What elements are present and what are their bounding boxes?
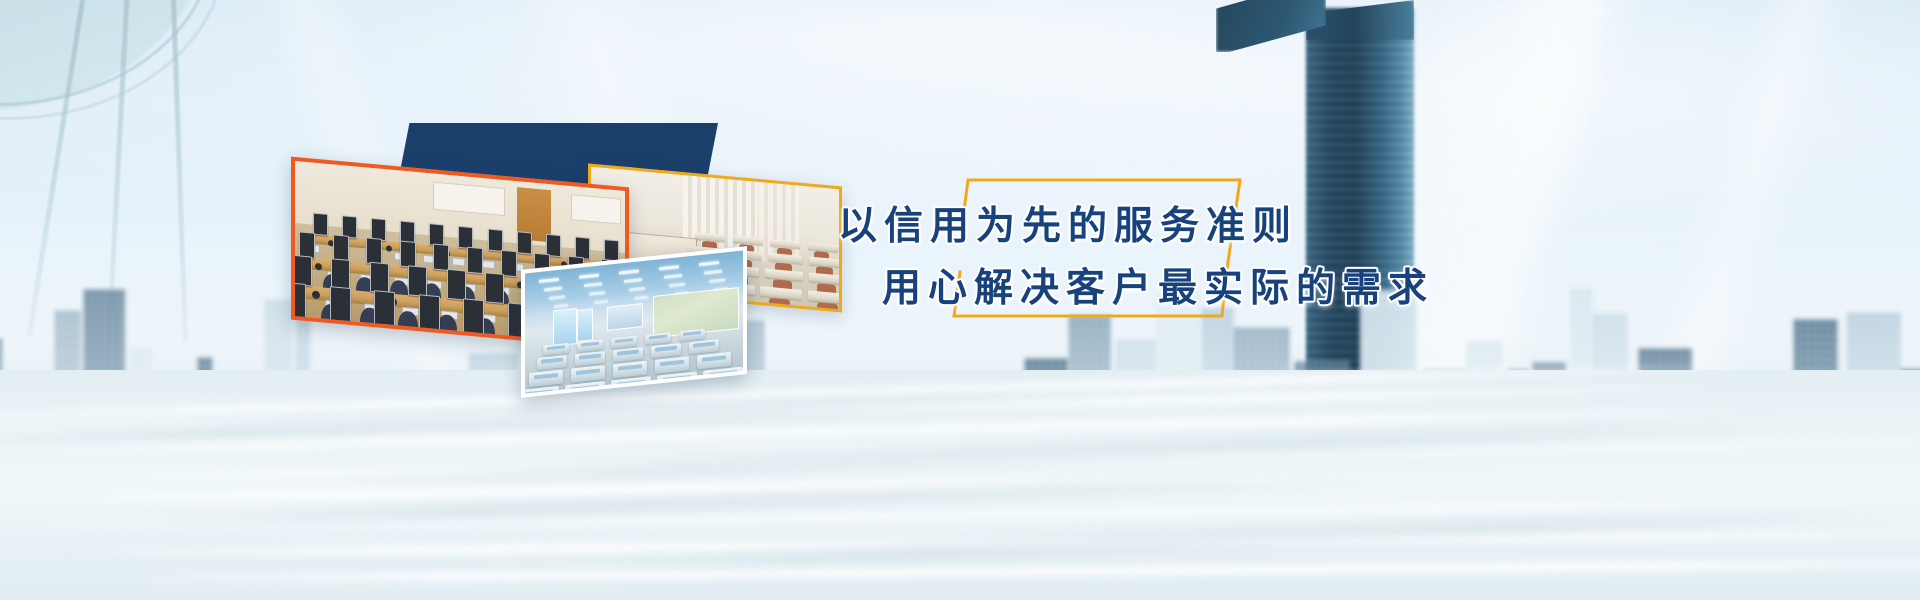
building-windows — [1294, 361, 1350, 440]
building-windows — [1737, 400, 1784, 440]
building — [1638, 348, 1692, 440]
slogan-block: 以信用为先的服务准则 用心解决客户最实际的需求 — [838, 196, 1358, 320]
building — [1201, 307, 1234, 440]
control-console — [679, 329, 705, 342]
lab-headset — [484, 339, 493, 349]
building-windows — [1024, 358, 1068, 440]
building-windows — [1068, 315, 1111, 440]
tower-crown — [1306, 0, 1414, 40]
control-console — [697, 352, 731, 370]
classroom-desk — [808, 242, 838, 252]
lab-monitor — [370, 262, 389, 294]
hero-banner: 以信用为先的服务准则 用心解决客户最实际的需求 — [0, 0, 1920, 600]
classroom-desk — [809, 257, 843, 268]
building — [1507, 369, 1529, 440]
control-console — [571, 365, 605, 383]
control-console — [577, 339, 603, 352]
light-beam — [1626, 0, 1864, 462]
lab-monitor — [293, 255, 312, 287]
building-windows — [1423, 370, 1467, 440]
control-console — [657, 371, 697, 391]
building — [1115, 339, 1156, 440]
light-beam — [1387, 0, 1654, 466]
lab-keyboard — [413, 342, 432, 351]
control-console — [613, 361, 647, 379]
building-windows — [1793, 319, 1838, 440]
building — [1024, 358, 1068, 440]
building — [1793, 319, 1838, 440]
building — [913, 381, 972, 440]
photo-collage — [0, 0, 920, 600]
lab-keyboard — [291, 330, 298, 340]
building-windows — [973, 385, 1020, 440]
lab-monitor — [517, 231, 532, 254]
lab-monitor — [313, 213, 328, 236]
control-console — [543, 343, 569, 356]
building — [1699, 379, 1739, 440]
lab-chair — [291, 334, 298, 350]
building-windows — [1846, 312, 1901, 440]
lab-chair — [409, 346, 432, 350]
building — [1294, 361, 1350, 440]
lab-monitor — [458, 226, 473, 249]
building-windows — [1638, 348, 1692, 440]
lab-monitor — [291, 282, 306, 319]
lab-headset — [306, 323, 315, 333]
building — [973, 385, 1020, 440]
classroom-chair — [817, 302, 838, 312]
building — [1737, 400, 1784, 440]
lab-keyboard — [502, 350, 521, 351]
control-console — [689, 339, 719, 354]
control-console — [611, 336, 637, 349]
building-windows — [1569, 288, 1594, 440]
lab-monitor — [330, 286, 351, 323]
building-windows — [1507, 369, 1529, 440]
control-console — [655, 356, 689, 374]
lab-monitor — [331, 258, 350, 290]
room-window — [553, 308, 577, 347]
tower-upper-wing — [1216, 0, 1326, 52]
building-windows — [1699, 379, 1739, 440]
classroom-desk — [760, 286, 802, 300]
lab-monitor — [485, 272, 504, 304]
room-window — [577, 308, 593, 342]
wall-screen — [607, 303, 643, 331]
lab-monitor — [408, 265, 427, 297]
building-windows — [1233, 327, 1290, 440]
classroom-desk — [765, 269, 803, 281]
slogan-line-1: 以信用为先的服务准则 — [838, 196, 1358, 258]
lab-whiteboard — [571, 194, 621, 225]
lab-monitor — [463, 298, 484, 335]
lab-monitor — [374, 290, 395, 327]
building-windows — [1465, 340, 1503, 440]
lab-keyboard — [457, 346, 476, 351]
lab-monitor — [488, 229, 503, 252]
control-console — [575, 351, 605, 366]
lab-monitor — [467, 247, 483, 274]
lab-headset — [386, 245, 392, 252]
building — [1068, 315, 1111, 440]
lab-keyboard — [368, 338, 387, 348]
lab-keyboard — [482, 260, 495, 269]
lab-chair — [320, 338, 343, 350]
building-windows — [1532, 362, 1566, 440]
lab-monitor — [447, 269, 466, 301]
control-console — [521, 386, 559, 398]
building — [1532, 362, 1566, 440]
slogan-line-2: 用心解决客户最实际的需求 — [838, 258, 1358, 320]
building-windows — [1900, 369, 1920, 440]
classroom-chair — [769, 298, 790, 313]
lab-keyboard — [324, 334, 343, 344]
lab-headset — [395, 331, 404, 341]
lab-monitor — [400, 241, 416, 268]
control-console — [645, 332, 671, 345]
building — [1592, 313, 1628, 440]
control-room-photo[interactable] — [521, 246, 747, 398]
building-windows — [1115, 339, 1156, 440]
lab-monitor — [366, 237, 382, 264]
building — [1465, 340, 1503, 440]
control-console — [537, 355, 567, 370]
building-windows — [913, 381, 972, 440]
control-console — [613, 347, 643, 362]
tower-haze — [1363, 0, 1607, 410]
building-windows — [1592, 313, 1628, 440]
control-console — [611, 376, 651, 396]
building — [1846, 312, 1901, 440]
control-console — [651, 343, 681, 358]
building — [1569, 288, 1594, 440]
control-console — [703, 367, 743, 387]
building — [1900, 369, 1920, 440]
lab-monitor — [419, 294, 440, 331]
lab-keyboard — [452, 257, 465, 266]
building-windows — [1201, 307, 1234, 440]
control-room-photo-content — [525, 251, 743, 394]
lab-headset — [312, 291, 320, 300]
building — [1423, 370, 1467, 440]
control-console — [529, 369, 563, 387]
lab-chair — [364, 342, 387, 350]
lab-headset — [315, 263, 322, 271]
building — [1233, 327, 1290, 440]
control-console — [565, 381, 605, 398]
lab-monitor — [433, 244, 449, 271]
